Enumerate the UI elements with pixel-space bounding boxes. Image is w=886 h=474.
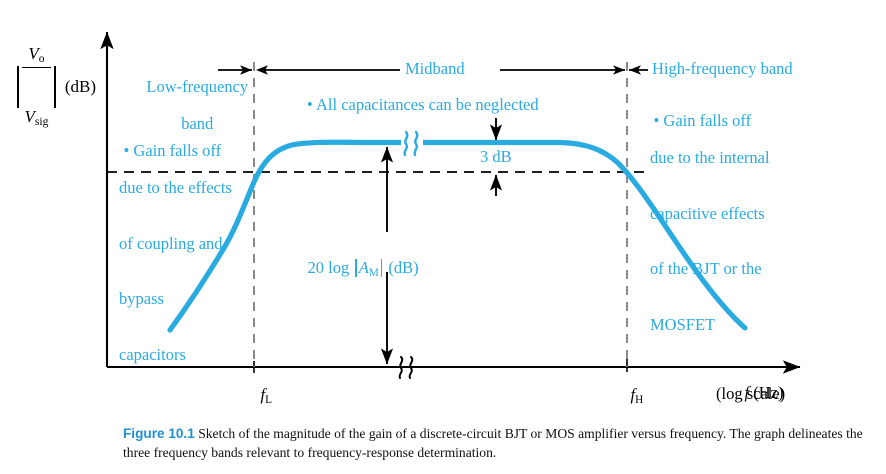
note-midband: • All capacitances can be neglected xyxy=(307,96,539,114)
x-tick-label-fl: fL xyxy=(244,368,272,426)
note-low-line3: of coupling and xyxy=(119,235,282,253)
fl-subscript: L xyxy=(265,395,272,407)
abs-bar-am-right xyxy=(381,259,382,277)
band-label-midband: Midband xyxy=(405,60,465,78)
note-high-frequency-band: • Gain falls off due to the internal cap… xyxy=(637,94,837,371)
abs-bar-right xyxy=(54,66,56,108)
note-low-line2: due to the effects xyxy=(119,179,282,197)
gain-label-symbol: A xyxy=(359,258,369,277)
note-high-line5: MOSFET xyxy=(650,316,837,334)
fh-subscript: H xyxy=(635,395,643,407)
gain-ratio-fraction: Vo Vsig xyxy=(22,6,52,168)
figure-10-1: Vo Vsig (dB) Low-frequency band Midband … xyxy=(0,0,886,474)
y-axis-label: Vo Vsig (dB) xyxy=(14,6,96,168)
x-tick-label-fh: fH xyxy=(614,368,643,426)
abs-bar-am-left xyxy=(355,259,356,277)
note-high-line4: of the BJT or the xyxy=(650,260,837,278)
note-low-bullet: • Gain falls off xyxy=(124,141,222,160)
fraction-denominator: Vsig xyxy=(22,106,52,129)
three-db-label: 3 dB xyxy=(480,148,512,166)
y-axis-unit: (dB) xyxy=(65,77,96,96)
band-label-high-frequency: High-frequency band xyxy=(652,60,793,78)
plateau-break-icon xyxy=(401,132,423,155)
fraction-numerator: Vo xyxy=(22,44,52,68)
figure-number: Figure 10.1 xyxy=(123,426,195,441)
gain-label-sub: M xyxy=(369,268,379,280)
note-high-line3: capacitive effects xyxy=(650,205,837,223)
note-high-line2: due to the internal xyxy=(650,149,837,167)
x-axis-break-icon xyxy=(400,357,413,378)
note-low-frequency-band: • Gain falls off due to the effects of c… xyxy=(107,124,282,401)
abs-bar-left xyxy=(17,66,19,108)
band-label-low-line1: Low-frequency xyxy=(146,77,248,96)
note-low-line5: capacitors xyxy=(119,346,282,364)
figure-caption: Figure 10.1 Sketch of the magnitude of t… xyxy=(123,425,871,463)
note-low-line4: bypass xyxy=(119,290,282,308)
x-axis-scale-note: (log scale) xyxy=(716,385,785,403)
note-high-bullet: • Gain falls off xyxy=(654,111,752,130)
midband-gain-label: 20 log AM (dB) xyxy=(291,241,419,299)
gain-label-unit: (dB) xyxy=(384,258,418,277)
gain-label-prefix: 20 log xyxy=(308,258,354,277)
figure-caption-text: Sketch of the magnitude of the gain of a… xyxy=(123,426,863,460)
